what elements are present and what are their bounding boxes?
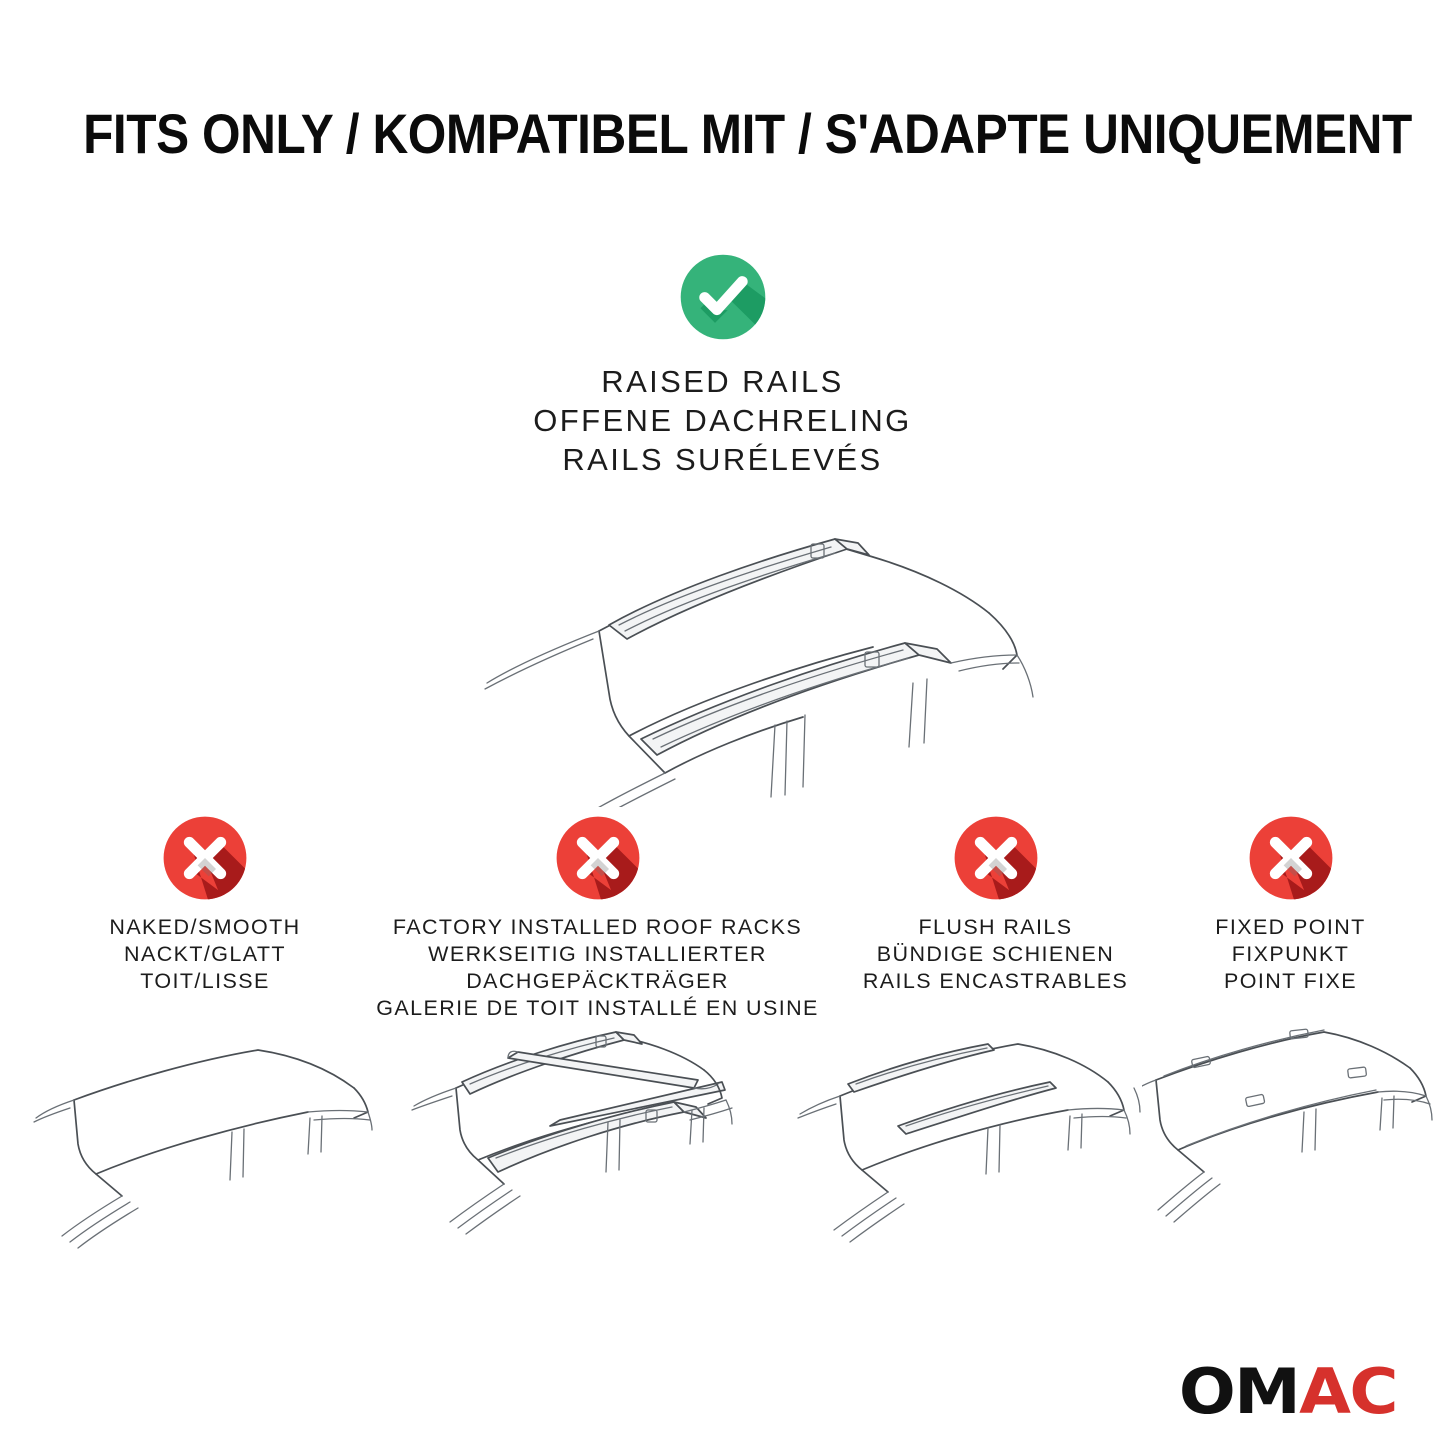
compatible-caption: RAISED RAILS OFFENE DACHRELING RAILS SUR…	[0, 362, 1445, 479]
incompatible-item-flush-rails: FLUSH RAILS BÜNDIGE SCHIENEN RAILS ENCAS…	[848, 812, 1143, 995]
incompatible-caption: FACTORY INSTALLED ROOF RACKS WERKSEITIG …	[365, 914, 830, 1022]
caption-line-fr: TOIT/LISSE	[60, 968, 350, 995]
incompatible-item-naked-smooth: NAKED/SMOOTH NACKT/GLATT TOIT/LISSE	[60, 812, 350, 995]
caption-line-en: FIXED POINT	[1163, 914, 1418, 941]
caption-line-de-1: WERKSEITIG INSTALLIERTER	[365, 941, 830, 968]
caption-line-de: FIXPUNKT	[1163, 941, 1418, 968]
caption-line-de: NACKT/GLATT	[60, 941, 350, 968]
red-x-circle-icon	[159, 812, 251, 904]
caption-line-de: BÜNDIGE SCHIENEN	[848, 941, 1143, 968]
caption-line-fr: RAILS ENCASTRABLES	[848, 968, 1143, 995]
compatible-block: RAISED RAILS OFFENE DACHRELING RAILS SUR…	[0, 250, 1445, 479]
incompatible-item-fixed-point: FIXED POINT FIXPUNKT POINT FIXE	[1163, 812, 1418, 995]
logo-text-om: OM	[1179, 1355, 1299, 1428]
car-roof-raised-rails-illustration	[403, 497, 1043, 807]
logo-text-ac: AC	[1299, 1355, 1397, 1428]
incompatible-caption: FIXED POINT FIXPUNKT POINT FIXE	[1163, 914, 1418, 995]
compatible-line-de: OFFENE DACHRELING	[0, 401, 1445, 440]
omac-logo: OMAC	[1179, 1361, 1397, 1423]
caption-line-fr: POINT FIXE	[1163, 968, 1418, 995]
caption-line-en: FLUSH RAILS	[848, 914, 1143, 941]
red-x-circle-icon	[1245, 812, 1337, 904]
car-roof-factory-racks-illustration	[392, 1022, 764, 1272]
car-roof-flush-rails-illustration	[782, 1022, 1142, 1272]
red-x-circle-icon	[552, 812, 644, 904]
caption-line-fr: GALERIE DE TOIT INSTALLÉ EN USINE	[365, 995, 830, 1022]
caption-line-de-2: DACHGEPÄCKTRÄGER	[365, 968, 830, 995]
car-roof-fixed-point-illustration	[1142, 1022, 1442, 1272]
car-roof-naked-smooth-illustration	[18, 1022, 378, 1272]
red-x-circle-icon	[950, 812, 1042, 904]
caption-line-en: NAKED/SMOOTH	[60, 914, 350, 941]
caption-line-en: FACTORY INSTALLED ROOF RACKS	[365, 914, 830, 941]
compatible-line-fr: RAILS SURÉLEVÉS	[0, 440, 1445, 479]
incompatible-caption: FLUSH RAILS BÜNDIGE SCHIENEN RAILS ENCAS…	[848, 914, 1143, 995]
fitment-infographic: FITS ONLY / KOMPATIBEL MIT / S'ADAPTE UN…	[0, 0, 1445, 1445]
green-check-circle-icon	[676, 250, 770, 344]
page-title: FITS ONLY / KOMPATIBEL MIT / S'ADAPTE UN…	[83, 103, 1362, 165]
compatible-line-en: RAISED RAILS	[0, 362, 1445, 401]
incompatible-caption: NAKED/SMOOTH NACKT/GLATT TOIT/LISSE	[60, 914, 350, 995]
incompatible-item-factory-installed-roof-racks: FACTORY INSTALLED ROOF RACKS WERKSEITIG …	[365, 812, 830, 1022]
